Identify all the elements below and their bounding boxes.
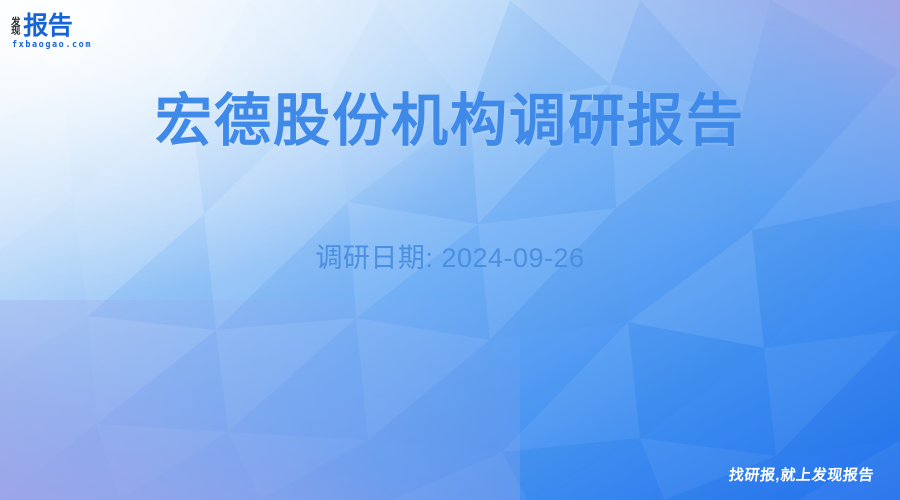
logo-row: 发 现 报告 xyxy=(11,10,72,38)
logo-domain-text: fxbaogao.com xyxy=(12,40,92,50)
logo-mark-icon: 发 现 xyxy=(11,18,20,38)
brand-logo[interactable]: 发 现 报告 fxbaogao.com xyxy=(11,10,121,54)
footer-tagline: 找研报,就上发现报告 xyxy=(728,464,876,485)
page-title: 宏德股份机构调研报告 xyxy=(0,89,900,155)
logo-wordmark: 报告 xyxy=(23,14,72,39)
logo-mark-bottom-char: 现 xyxy=(11,27,20,37)
report-cover: 发 现 报告 fxbaogao.com 宏德股份机构调研报告 调研日期: 202… xyxy=(0,0,900,500)
survey-date-subtitle: 调研日期: 2024-09-26 xyxy=(0,236,900,275)
